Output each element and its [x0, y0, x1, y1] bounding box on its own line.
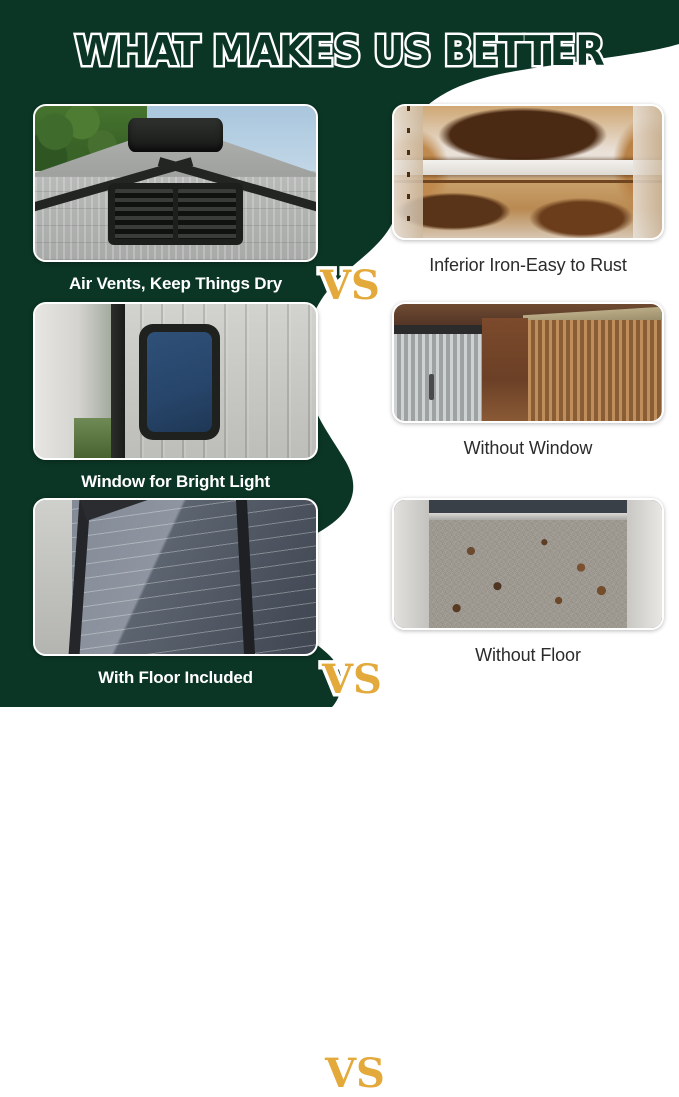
photo-shed-window	[33, 302, 318, 460]
page-title: WHAT MAKES US BETTER	[75, 27, 604, 75]
vs-badge-floor: VS	[325, 1054, 385, 1094]
page-title-container: WHAT MAKES US BETTER	[0, 22, 679, 80]
good-cell-window: Window for Bright Light	[33, 302, 318, 493]
photo-shed-no-window	[392, 302, 664, 423]
bad-cell-window: Without Window	[392, 302, 664, 459]
caption-with-floor: With Floor Included	[33, 667, 318, 689]
caption-window-bright-light: Window for Bright Light	[33, 471, 318, 493]
good-cell-floor: With Floor Included	[33, 498, 318, 689]
photo-resin-floor	[33, 498, 318, 656]
caption-air-vents: Air Vents, Keep Things Dry	[33, 273, 318, 295]
comparison-row-window: Window for Bright Light VS Without Windo…	[0, 302, 679, 498]
good-cell-ventilation: Air Vents, Keep Things Dry	[33, 104, 318, 295]
caption-inferior-iron: Inferior Iron-Easy to Rust	[392, 254, 664, 276]
bad-cell-ventilation: Inferior Iron-Easy to Rust	[392, 104, 664, 276]
vs-badge-ventilation: VS	[320, 266, 380, 306]
ridge-vent-icon	[128, 118, 224, 152]
louver-vent-icon	[108, 183, 243, 245]
comparison-row-floor: With Floor Included VS Without Floor	[0, 498, 679, 698]
comparison-row-ventilation: Air Vents, Keep Things Dry VS Inferior I…	[0, 104, 679, 304]
caption-without-floor: Without Floor	[392, 644, 664, 666]
photo-bare-ground	[392, 498, 664, 630]
bad-cell-floor: Without Floor	[392, 498, 664, 666]
caption-without-window: Without Window	[392, 437, 664, 459]
photo-rusty-iron	[392, 104, 664, 240]
window-frame-icon	[139, 324, 220, 440]
photo-air-vents	[33, 104, 318, 262]
